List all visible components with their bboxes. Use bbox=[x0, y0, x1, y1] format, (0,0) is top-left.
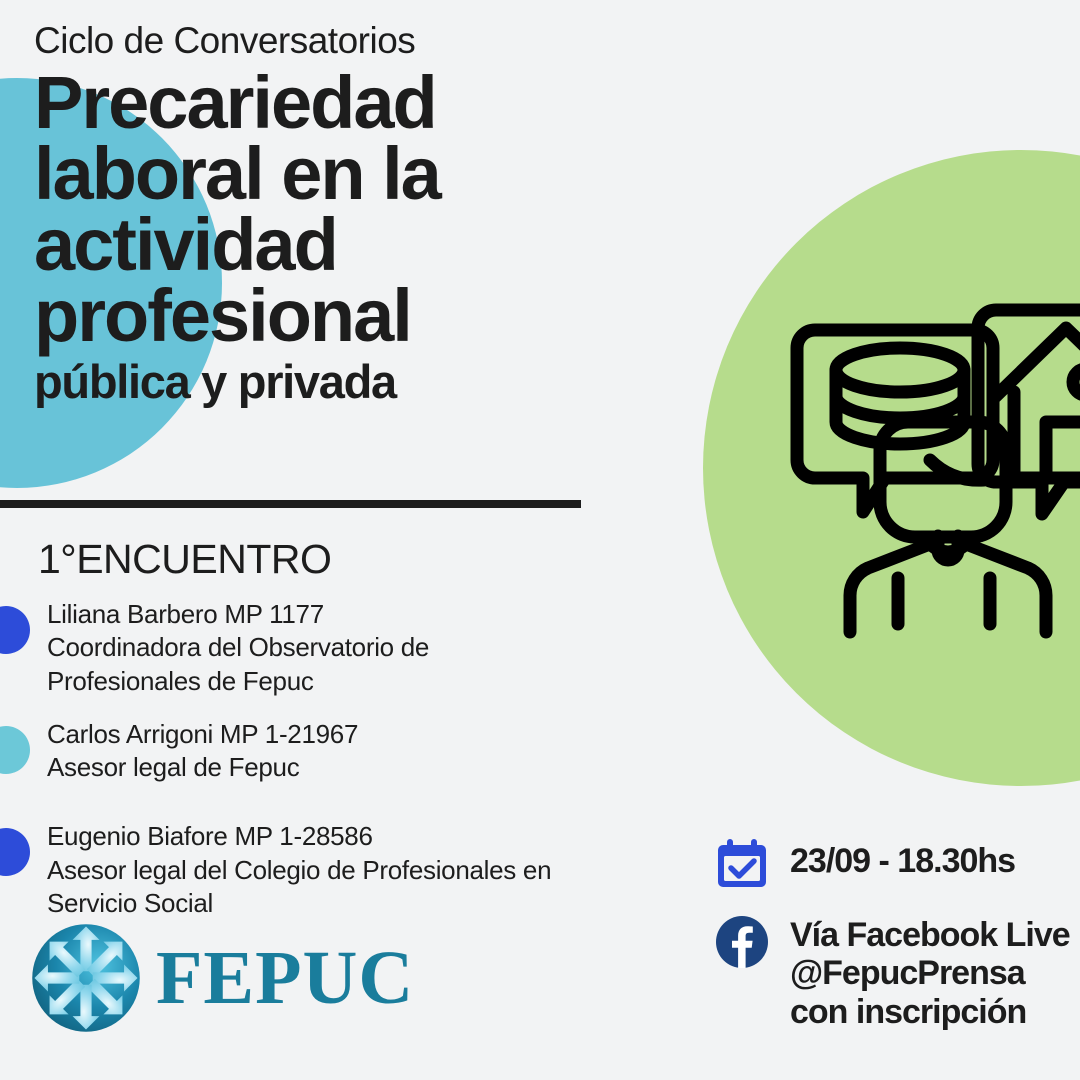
event-info-block: 23/09 - 18.30hs Vía Facebook Live @Fepuc… bbox=[714, 836, 1070, 1031]
event-date-text: 23/09 - 18.30hs bbox=[790, 836, 1015, 880]
illustration-svg bbox=[790, 270, 1080, 670]
facebook-row[interactable]: Vía Facebook Live @FepucPrensa con inscr… bbox=[714, 914, 1070, 1031]
poster-canvas: Ciclo de Conversatorios Precariedad labo… bbox=[0, 0, 1080, 1080]
house-window-round bbox=[1073, 369, 1080, 395]
bullet-dot bbox=[0, 606, 30, 654]
list-item: Liliana Barbero MP 1177 Coordinadora del… bbox=[0, 598, 680, 718]
fepuc-logo: FEPUC bbox=[30, 922, 414, 1034]
bullet-dot bbox=[0, 828, 30, 876]
facebook-info-text: Vía Facebook Live @FepucPrensa con inscr… bbox=[790, 914, 1070, 1031]
list-item: Carlos Arrigoni MP 1-21967 Asesor legal … bbox=[0, 718, 680, 805]
page-title: Precariedad laboral en la actividad prof… bbox=[34, 67, 654, 351]
speaker-role: Asesor legal de Fepuc bbox=[47, 751, 680, 784]
speaker-role: Coordinadora del Observatorio de Profesi… bbox=[47, 631, 680, 698]
coin-top bbox=[836, 348, 964, 392]
speaker-name: Carlos Arrigoni MP 1-21967 bbox=[47, 718, 680, 751]
house-door bbox=[1046, 422, 1080, 478]
speaker-list: Liliana Barbero MP 1177 Coordinadora del… bbox=[0, 598, 680, 940]
event-date-row: 23/09 - 18.30hs bbox=[714, 836, 1070, 892]
headline-line-1: Precariedad bbox=[34, 67, 654, 138]
person-shoulders bbox=[850, 544, 1046, 632]
header-block: Ciclo de Conversatorios Precariedad labo… bbox=[34, 22, 654, 406]
person-collar bbox=[898, 578, 990, 624]
horizontal-divider bbox=[0, 500, 581, 508]
speaker-name: Liliana Barbero MP 1177 bbox=[47, 598, 680, 631]
fepuc-radial-mark-icon bbox=[30, 922, 142, 1034]
subtitle-text: pública y privada bbox=[34, 357, 654, 406]
headline-line-4: profesional bbox=[34, 280, 654, 351]
session-title: 1°ENCUENTRO bbox=[38, 539, 331, 580]
calendar-check-icon bbox=[714, 836, 770, 892]
fepuc-wordmark: FEPUC bbox=[156, 940, 414, 1016]
illustration-person-speech-bubbles bbox=[790, 270, 1080, 670]
headline-line-3: actividad bbox=[34, 209, 654, 280]
speaker-name: Eugenio Biafore MP 1-28586 bbox=[47, 820, 680, 853]
bullet-dot bbox=[0, 726, 30, 774]
headline-line-2: laboral en la bbox=[34, 138, 654, 209]
kicker-text: Ciclo de Conversatorios bbox=[34, 22, 654, 61]
speaker-role: Asesor legal del Colegio de Profesionale… bbox=[47, 854, 680, 921]
list-item: Eugenio Biafore MP 1-28586 Asesor legal … bbox=[0, 804, 680, 940]
house-roof bbox=[994, 328, 1080, 398]
facebook-icon[interactable] bbox=[714, 914, 770, 970]
